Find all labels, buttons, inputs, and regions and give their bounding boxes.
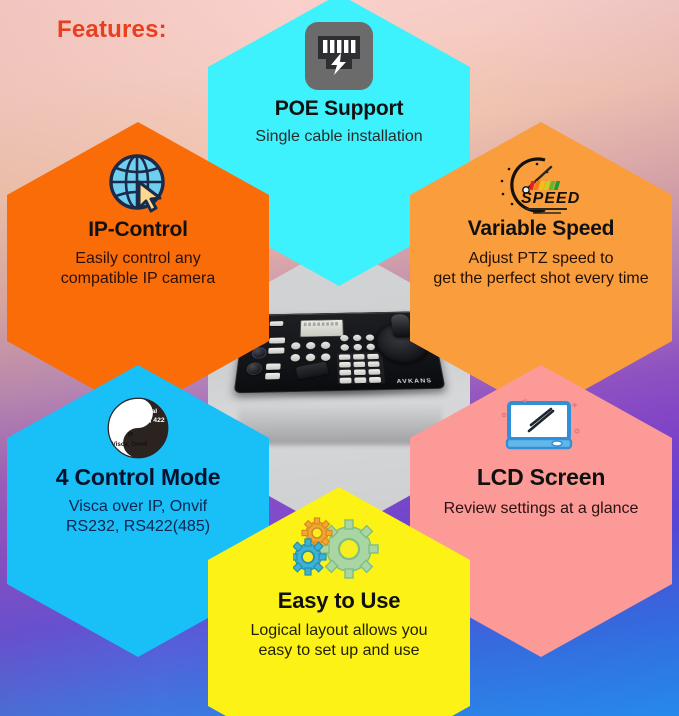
controller-lcd-display: [300, 319, 344, 337]
feature-desc-ip-control: Easily control any compatible IP camera: [61, 249, 215, 288]
gear-large: [320, 520, 378, 578]
controller-round-button: [353, 344, 362, 351]
gears-icon: [293, 517, 385, 581]
controller-button: [270, 321, 284, 326]
feature-desc-control-mode: Visca over IP, Onvif RS232, RS422(485): [66, 497, 210, 536]
feature-title-variable-speed: Variable Speed: [468, 218, 615, 240]
globe-cursor-icon: [107, 152, 169, 214]
feature-desc-poe: Single cable installation: [255, 127, 422, 147]
feature-desc-variable-speed: Adjust PTZ speed to get the perfect shot…: [433, 249, 648, 288]
ethernet-poe-icon: [305, 22, 373, 90]
controller-keypad: [337, 352, 385, 384]
product-reflection: [238, 393, 442, 445]
infographic-stage: Features:: [0, 0, 679, 716]
yin-yang-light-line1: IP: [128, 432, 134, 439]
feature-desc-easy-to-use: Logical layout allows you easy to set up…: [251, 621, 428, 660]
feature-title-poe: POE Support: [275, 98, 403, 120]
controller-joystick: [391, 314, 412, 337]
yin-yang-light-line2: Visca, Onvif: [112, 441, 148, 448]
monitor-icon: [501, 397, 581, 457]
feature-title-lcd-screen: LCD Screen: [477, 465, 605, 489]
poe-icon-wrap: [208, 12, 470, 90]
feature-title-ip-control: IP-Control: [88, 219, 187, 241]
controller-round-button: [366, 344, 375, 351]
yin-yang-dark-line2: RS232, 422: [129, 417, 165, 424]
feature-title-easy-to-use: Easy to Use: [278, 589, 401, 612]
controller-button: [266, 363, 281, 370]
page-title: Features:: [57, 16, 167, 44]
product-brand-label: AVKANS: [396, 378, 432, 384]
speedometer-icon: SPEED: [493, 154, 589, 214]
controller-button: [265, 373, 280, 380]
yin-yang-icon: Serial RS232, 422 IP Visca, Onvif: [107, 397, 169, 459]
controller-button: [269, 338, 285, 344]
gear-small-blue: [293, 539, 326, 575]
feature-desc-lcd-screen: Review settings at a glance: [444, 499, 639, 519]
controller-button: [268, 348, 284, 354]
svg-text:SPEED: SPEED: [521, 190, 580, 207]
controller-round-button: [366, 334, 375, 341]
yin-yang-dark-line1: Serial: [139, 408, 158, 415]
feature-title-control-mode: 4 Control Mode: [56, 465, 221, 489]
